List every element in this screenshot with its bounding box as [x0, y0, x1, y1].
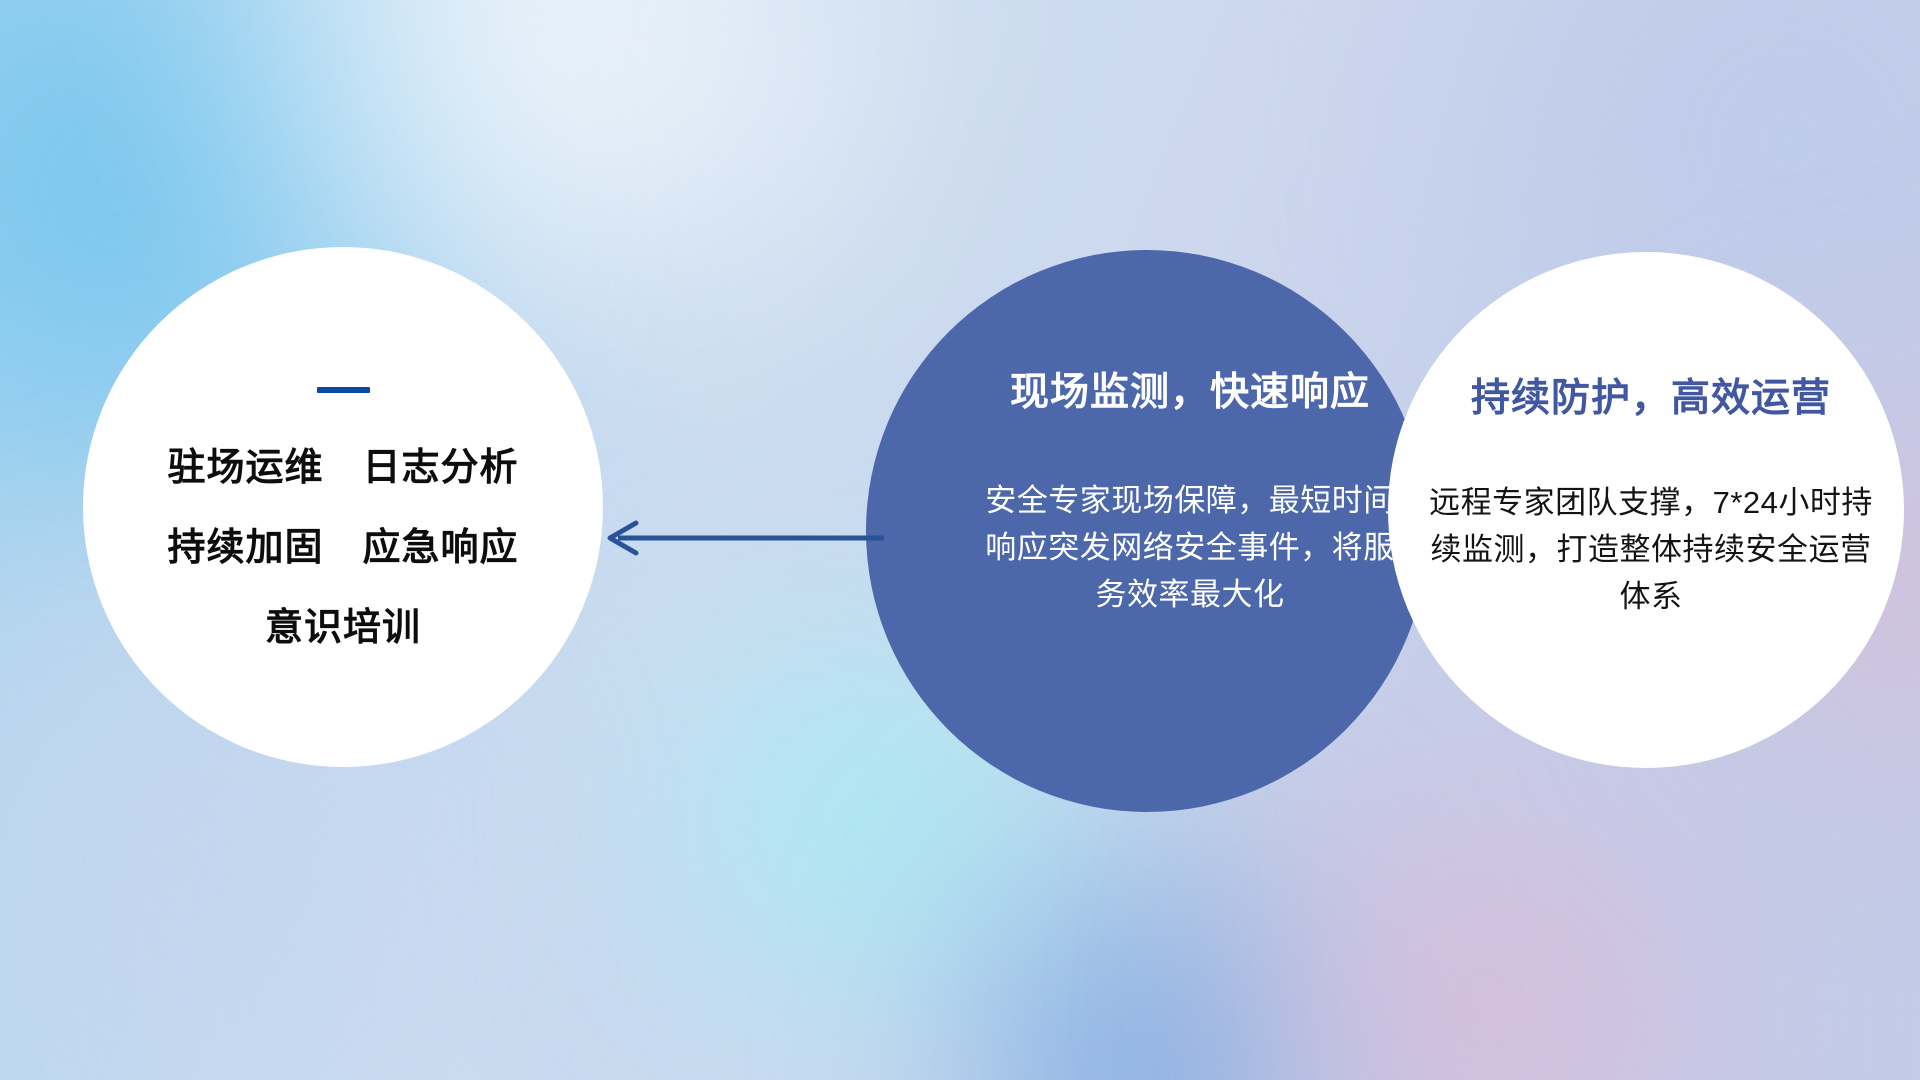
slide-canvas: 现场监测，快速响应 安全专家现场保障，最短时间响应突发网络安全事件，将服务效率最… [0, 0, 1920, 1080]
circle-capabilities-content: 驻场运维 日志分析 持续加固 应急响应 意识培训 [83, 387, 603, 647]
circle-continuous-protection[interactable]: 持续防护，高效运营 远程专家团队支撑，7*24小时持续监测，打造整体持续安全运营… [1388, 252, 1904, 768]
accent-divider [317, 387, 370, 393]
capability-line-1: 驻场运维 日志分析 [167, 449, 518, 487]
capability-line-3: 意识培训 [265, 609, 421, 647]
circle-capabilities[interactable]: 驻场运维 日志分析 持续加固 应急响应 意识培训 [83, 247, 603, 767]
circle-onsite-monitoring[interactable]: 现场监测，快速响应 安全专家现场保障，最短时间响应突发网络安全事件，将服务效率最… [866, 250, 1428, 812]
circle-onsite-monitoring-content: 现场监测，快速响应 安全专家现场保障，最短时间响应突发网络安全事件，将服务效率最… [976, 372, 1404, 618]
capability-line-2: 持续加固 应急响应 [167, 529, 518, 567]
circle-continuous-protection-body: 远程专家团队支撑，7*24小时持续监测，打造整体持续安全运营体系 [1422, 479, 1880, 620]
left-pointing-arrow-icon [596, 515, 886, 561]
circle-onsite-monitoring-body: 安全专家现场保障，最短时间响应突发网络安全事件，将服务效率最大化 [976, 477, 1404, 618]
circle-onsite-monitoring-title: 现场监测，快速响应 [976, 372, 1404, 415]
circle-continuous-protection-title: 持续防护，高效运营 [1422, 378, 1880, 421]
circle-continuous-protection-content: 持续防护，高效运营 远程专家团队支撑，7*24小时持续监测，打造整体持续安全运营… [1422, 378, 1880, 620]
